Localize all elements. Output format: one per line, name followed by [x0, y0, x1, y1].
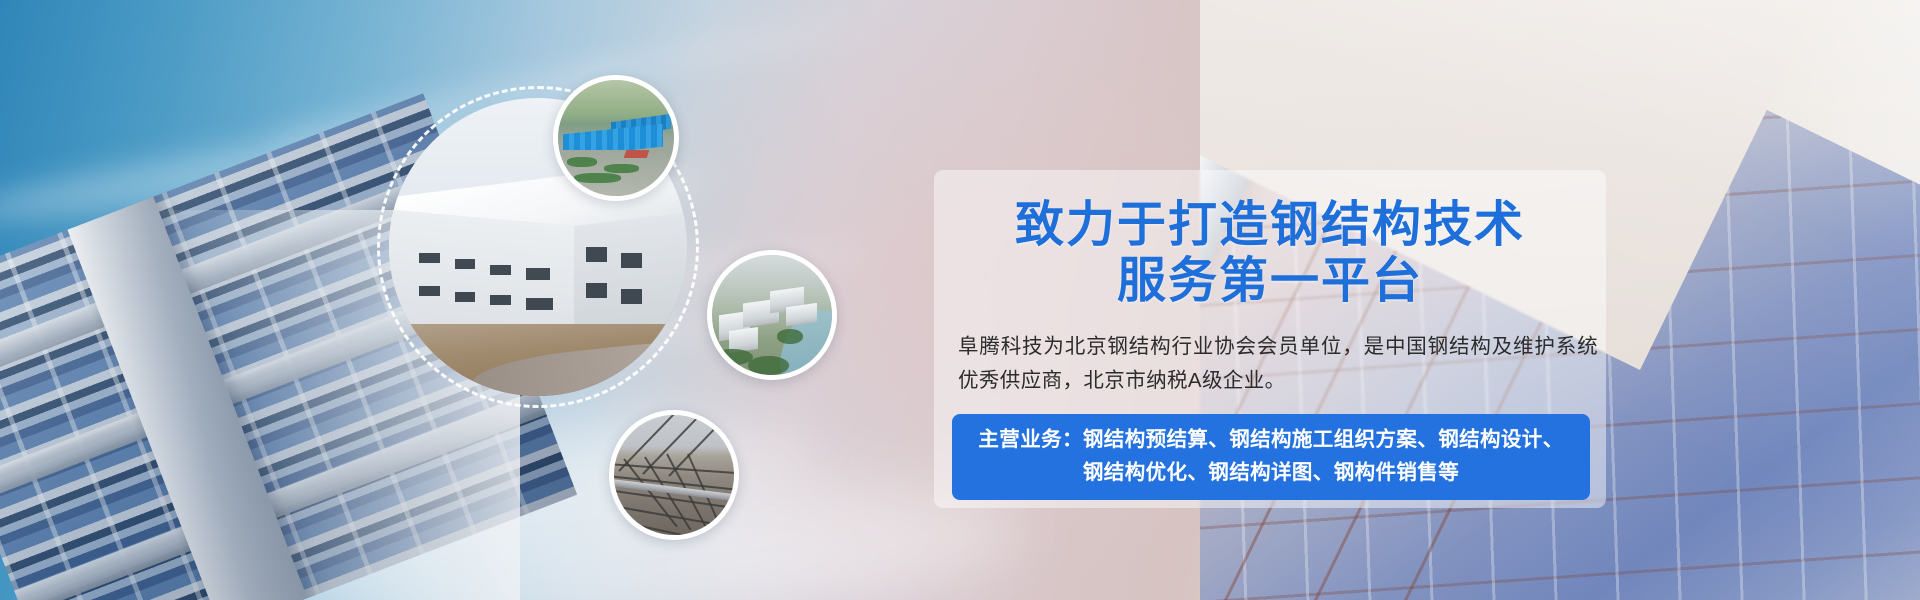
- circle-photo-steel-truss: [609, 410, 739, 540]
- tree-cluster: [748, 356, 789, 375]
- tree-cluster: [777, 329, 803, 343]
- photo-office-park: [712, 255, 832, 375]
- sports-court: [624, 150, 650, 158]
- circle-photo-factory-aerial: [553, 75, 679, 201]
- building-window: [419, 286, 440, 296]
- photo-blue-roof-factory: [558, 80, 674, 196]
- building-window: [586, 283, 607, 298]
- hero-banner: 致力于打造钢结构技术 服务第一平台 阜腾科技为北京钢结构行业协会会员单位，是中国…: [0, 0, 1920, 600]
- building-window: [526, 268, 550, 280]
- main-business-badge: 主营业务：钢结构预结算、钢结构施工组织方案、钢结构设计、钢结构优化、钢结构详图、…: [952, 414, 1590, 500]
- landscaping: [574, 173, 620, 183]
- building-window: [455, 292, 476, 302]
- landscaping: [567, 157, 597, 167]
- building-window: [526, 298, 553, 310]
- banner-description: 阜腾科技为北京钢结构行业协会会员单位，是中国钢结构及维护系统优秀供应商，北京市纳…: [958, 330, 1598, 398]
- building-window: [586, 247, 607, 262]
- building-window: [621, 253, 642, 268]
- building-window: [490, 295, 511, 305]
- building-window: [621, 289, 642, 304]
- circle-photo-office-park-aerial: [707, 250, 837, 380]
- building-window: [419, 253, 440, 263]
- building-window: [490, 265, 511, 275]
- building-window: [455, 259, 476, 269]
- banner-headline: 致力于打造钢结构技术 服务第一平台: [934, 196, 1606, 308]
- landscaping: [604, 164, 639, 173]
- photo-steel-space-frame: [614, 415, 734, 535]
- tree-cluster: [712, 349, 753, 366]
- truss-diagonal: [668, 415, 728, 477]
